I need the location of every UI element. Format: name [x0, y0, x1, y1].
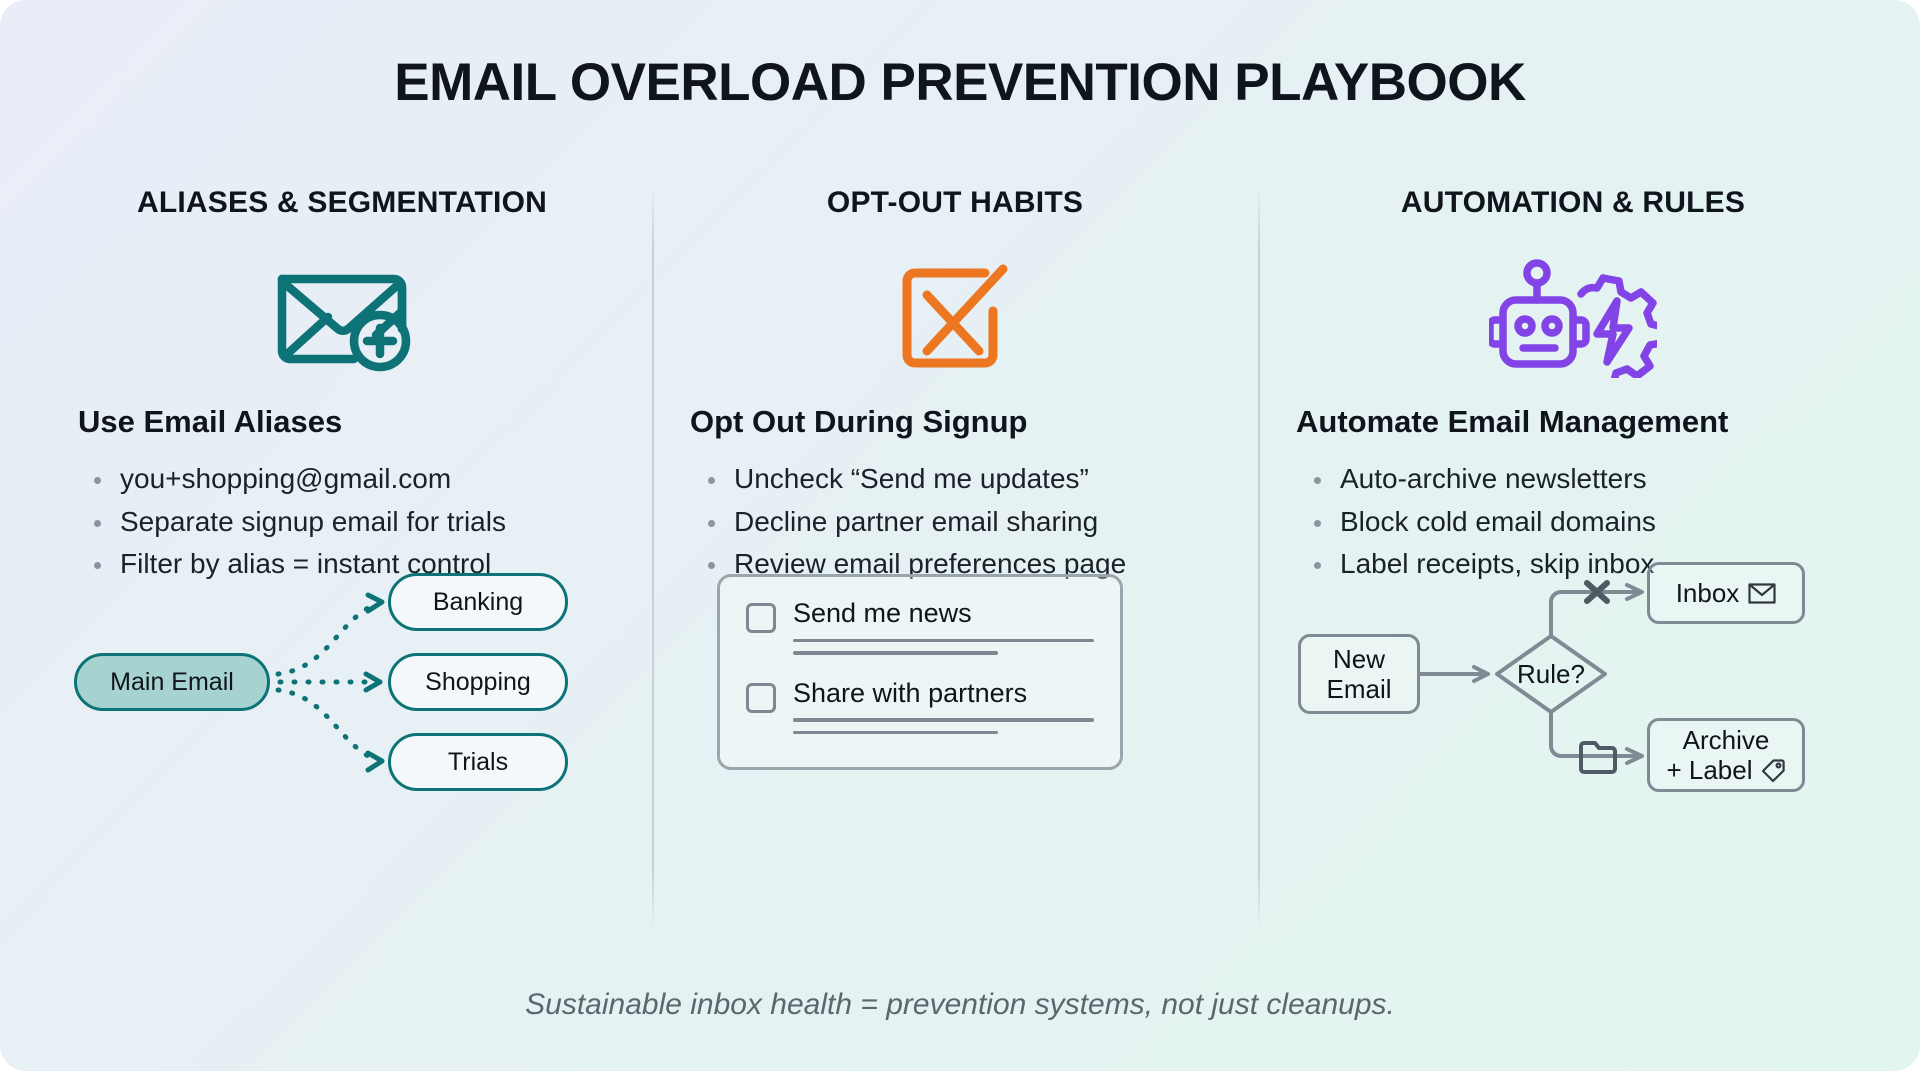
- list-item: Uncheck “Send me updates”: [704, 458, 1248, 501]
- robot-gear-icon: [1268, 248, 1878, 388]
- flow-node-new-email-line2: Email: [1326, 674, 1391, 704]
- list-item: Decline partner email sharing: [704, 501, 1248, 544]
- column-divider-2: [1258, 186, 1260, 931]
- rule-flowchart-diagram: Rule? New Email New Email Inbox: [1292, 558, 1872, 788]
- placeholder-line: [793, 731, 998, 735]
- signup-form-panel: Send me news Share with partners: [717, 574, 1123, 770]
- flow-node-archive-line2: + Label: [1666, 755, 1752, 785]
- flow-node-new-email[interactable]: New Email New Email: [1298, 634, 1420, 714]
- form-row-share-with-partners[interactable]: Share with partners: [746, 679, 1094, 735]
- tag-icon: [1761, 758, 1786, 783]
- checkbox-send-me-news[interactable]: [746, 603, 776, 633]
- footer-note: Sustainable inbox health = prevention sy…: [0, 988, 1920, 1022]
- column-1-header: ALIASES & SEGMENTATION: [42, 186, 642, 220]
- list-item: Separate signup email for trials: [90, 501, 642, 544]
- pill-trials[interactable]: Trials: [388, 733, 568, 791]
- flow-node-new-email-line1: New: [1333, 644, 1385, 674]
- envelope-plus-icon: [42, 248, 642, 388]
- checkbox-x-icon: [662, 248, 1248, 388]
- form-row-send-me-news[interactable]: Send me news: [746, 599, 1094, 655]
- flow-node-inbox[interactable]: Inbox: [1647, 562, 1805, 624]
- decision-rule[interactable]: Rule?: [1497, 636, 1605, 712]
- form-field: Send me news: [793, 599, 1094, 655]
- label-share-with-partners: Share with partners: [793, 679, 1094, 708]
- list-item: Auto-archive newsletters: [1310, 458, 1878, 501]
- label-send-me-news: Send me news: [793, 599, 1094, 628]
- column-aliases-segmentation: ALIASES & SEGMENTATION Use Email Aliases: [42, 186, 642, 946]
- pill-shopping[interactable]: Shopping: [388, 653, 568, 711]
- placeholder-line: [793, 639, 1094, 643]
- column-divider-1: [652, 186, 654, 931]
- list-item: you+shopping@gmail.com: [90, 458, 642, 501]
- page-title: EMAIL OVERLOAD PREVENTION PLAYBOOK: [0, 52, 1920, 113]
- column-3-subtitle: Automate Email Management: [1268, 404, 1878, 440]
- column-2-subtitle: Opt Out During Signup: [662, 404, 1248, 440]
- checkbox-share-with-partners[interactable]: [746, 683, 776, 713]
- column-2-bullets: Uncheck “Send me updates” Decline partne…: [662, 458, 1248, 586]
- list-item: Block cold email domains: [1310, 501, 1878, 544]
- decision-label: Rule?: [1517, 659, 1585, 690]
- column-opt-out-habits: OPT-OUT HABITS Opt Out During Signup Unc…: [662, 186, 1248, 946]
- placeholder-line: [793, 651, 998, 655]
- pill-main-email[interactable]: Main Email: [74, 653, 270, 711]
- flow-node-inbox-label: Inbox: [1676, 578, 1740, 608]
- flow-node-archive-label[interactable]: Archive + Label: [1647, 718, 1805, 792]
- column-3-header: AUTOMATION & RULES: [1268, 186, 1878, 220]
- pill-banking[interactable]: Banking: [388, 573, 568, 631]
- alias-fanout-diagram: Main Email Banking Shopping Trials: [66, 564, 626, 804]
- flow-node-archive-line1: Archive: [1683, 725, 1770, 755]
- form-field: Share with partners: [793, 679, 1094, 735]
- column-2-header: OPT-OUT HABITS: [662, 186, 1248, 220]
- column-automation-rules: AUTOMATION & RULES Automate Email Manage…: [1268, 186, 1878, 946]
- placeholder-line: [793, 718, 1094, 722]
- infographic-poster: EMAIL OVERLOAD PREVENTION PLAYBOOK ALIAS…: [0, 0, 1920, 1071]
- envelope-icon: [1748, 583, 1776, 604]
- column-1-subtitle: Use Email Aliases: [42, 404, 642, 440]
